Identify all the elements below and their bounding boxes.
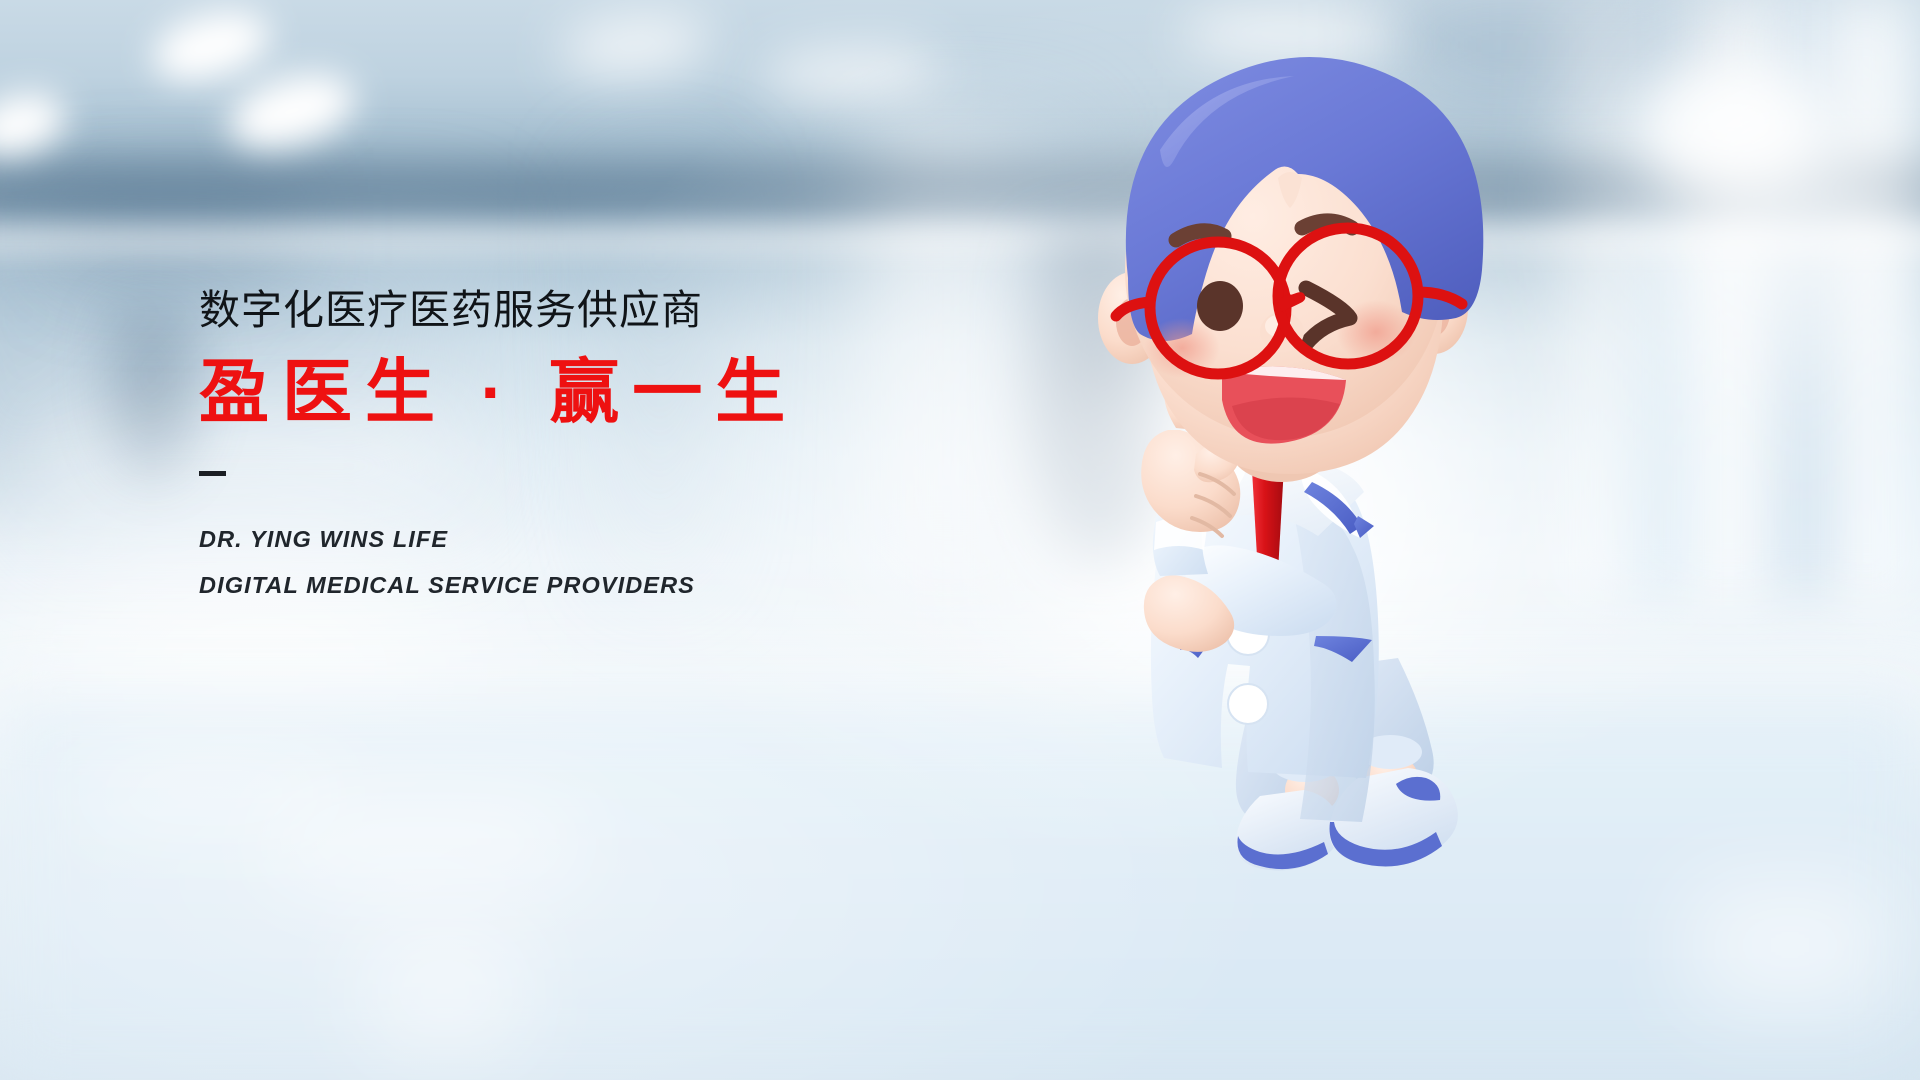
- page-title: 盈医生 · 赢一生: [199, 357, 959, 427]
- hero-kicker: 数字化医疗医药服务供应商: [199, 290, 959, 331]
- hero-copy: 数字化医疗医药服务供应商 盈医生 · 赢一生 DR. YING WINS LIF…: [199, 290, 959, 604]
- doctor-mascot: [960, 30, 1660, 860]
- hero-english-line-2: DIGITAL MEDICAL SERVICE PROVIDERS: [199, 567, 959, 603]
- mascot-eye-left: [1197, 281, 1243, 331]
- divider: [199, 471, 226, 476]
- hero-banner: 数字化医疗医药服务供应商 盈医生 · 赢一生 DR. YING WINS LIF…: [0, 0, 1920, 1080]
- mascot-head: [1098, 57, 1483, 474]
- hero-english-line-1: DR. YING WINS LIFE: [199, 521, 959, 557]
